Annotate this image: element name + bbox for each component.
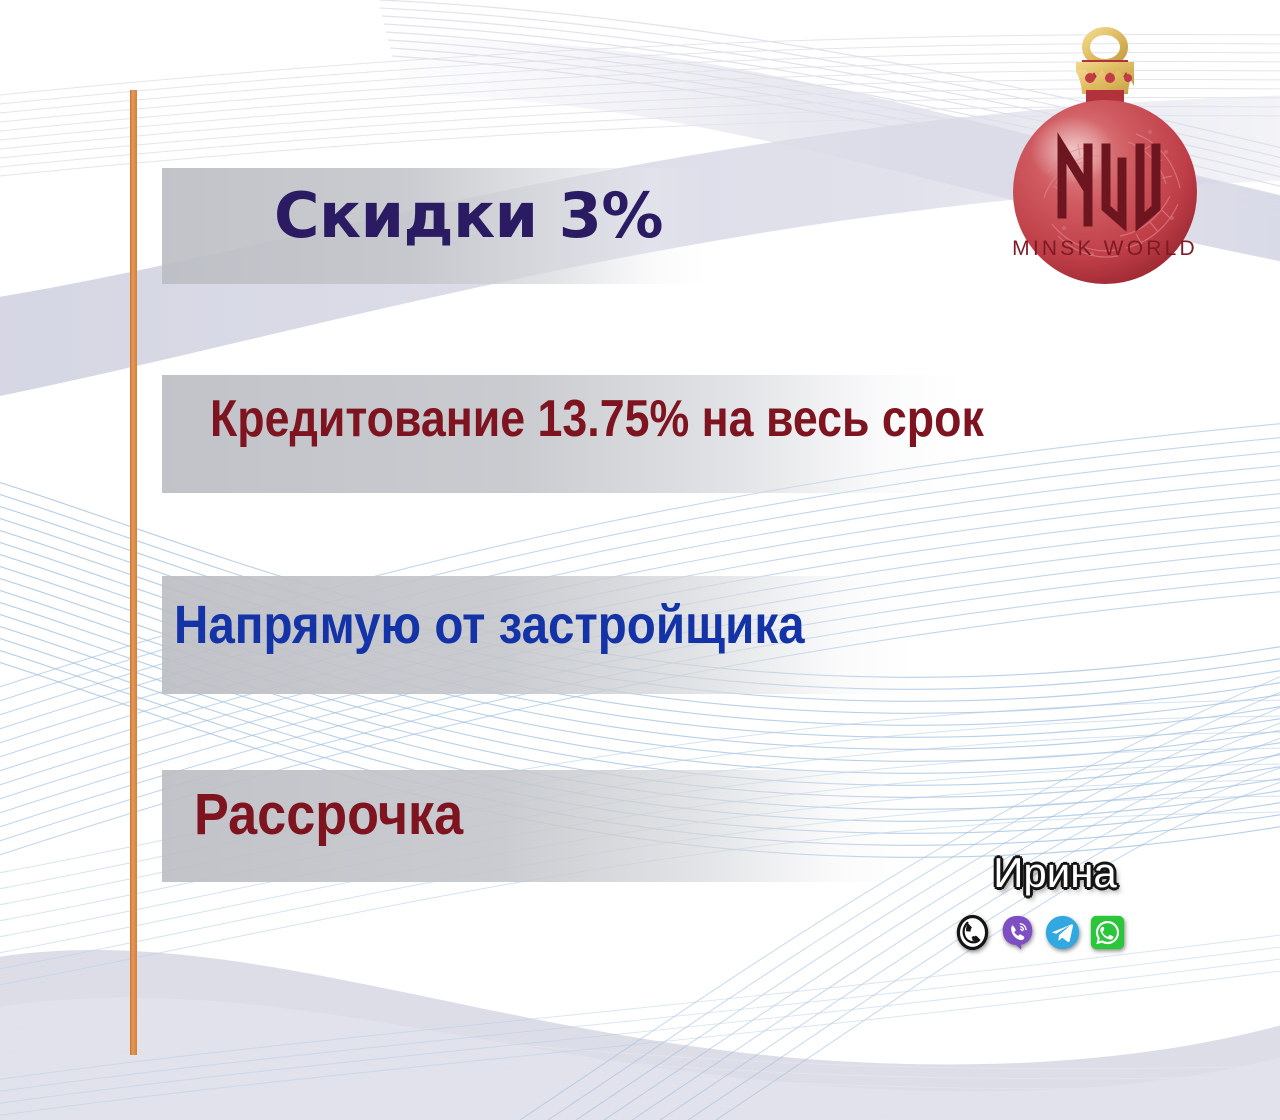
minsk-world-ornament-logo: MINSK WORLD — [1000, 22, 1210, 292]
offer-text-discount: Скидки 3% — [274, 185, 663, 247]
telegram-icon[interactable] — [1044, 914, 1081, 951]
offer-text-credit: Кредитование 13.75% на весь срок — [210, 393, 984, 445]
offer-band-installment: Рассрочка — [162, 770, 910, 882]
offer-band-credit: Кредитование 13.75% на весь срок — [162, 375, 962, 493]
offer-text-direct: Напрямую от застройщика — [174, 598, 805, 652]
accent-rule — [130, 90, 137, 1055]
ornament-loop — [1086, 31, 1124, 63]
messenger-icon-row — [954, 914, 1126, 951]
ornament-ball: MINSK WORLD — [1012, 100, 1198, 284]
whatsapp-icon[interactable] — [1089, 914, 1126, 951]
promo-slide: Скидки 3% Кредитование 13.75% на весь ср… — [0, 0, 1280, 1120]
contact-block: Ирина — [940, 852, 1170, 962]
offer-band-direct: Напрямую от застройщика — [162, 576, 914, 694]
phone-icon[interactable] — [954, 914, 991, 951]
offer-band-discount: Скидки 3% — [162, 168, 707, 284]
logo-brand-text: MINSK WORLD — [1012, 237, 1198, 260]
offer-text-installment: Рассрочка — [194, 786, 463, 844]
ornament-cap — [1076, 60, 1134, 102]
viber-icon[interactable] — [999, 914, 1036, 951]
contact-name: Ирина — [940, 852, 1170, 894]
